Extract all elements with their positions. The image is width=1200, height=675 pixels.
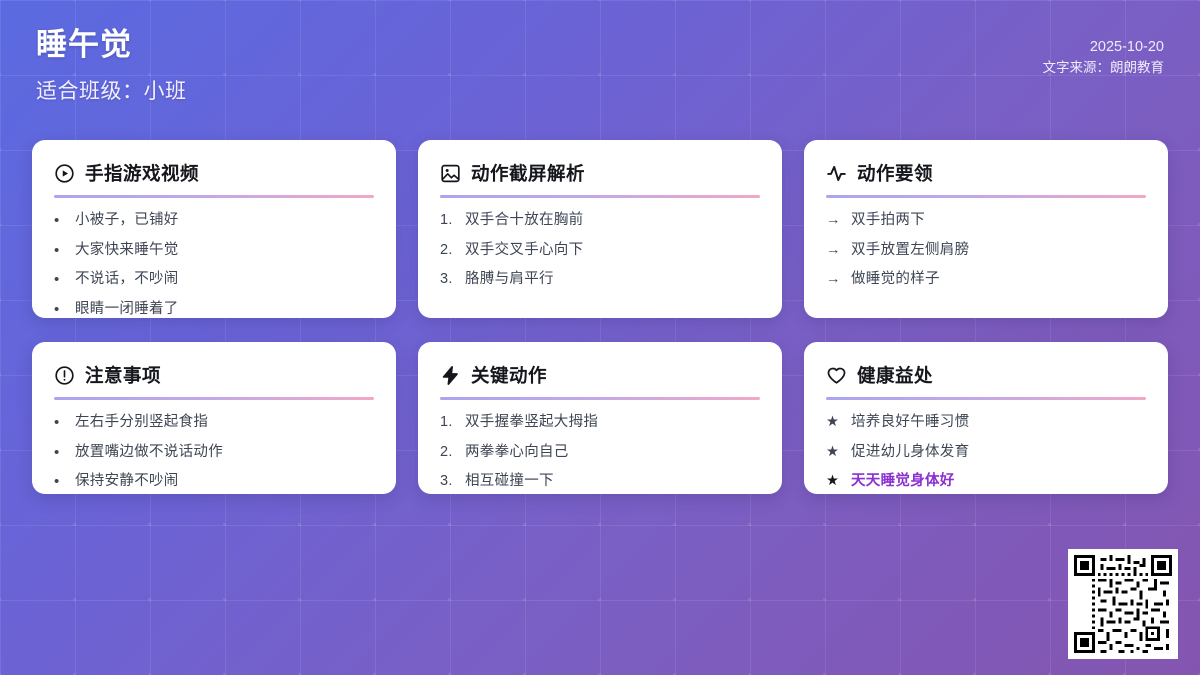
list-item-text: 小被子，已铺好 [75, 211, 179, 231]
list-item-text: 眼睛一闭睡着了 [75, 300, 179, 318]
card-header: 关键动作 [440, 362, 760, 388]
card-divider [54, 195, 374, 198]
list-item: ★培养良好午睡习惯 [826, 413, 1146, 433]
list-marker: • [54, 413, 67, 433]
list-item: 3.相互碰撞一下 [440, 472, 760, 492]
card-divider [826, 195, 1146, 198]
list-item-text: 不说话，不吵闹 [75, 270, 179, 290]
header-meta: 2025-10-20 文字来源：朗朗教育 [1043, 36, 1165, 79]
play-circle-icon [54, 163, 75, 184]
card-title: 动作要领 [857, 160, 933, 186]
list-item-text: 保持安静不吵闹 [75, 472, 179, 492]
image-icon [440, 163, 461, 184]
card-grid: 手指游戏视频•小被子，已铺好•大家快来睡午觉•不说话，不吵闹•眼睛一闭睡着了动作… [32, 140, 1168, 494]
list-item-text: 天天睡觉身体好 [851, 472, 955, 492]
list-item: ★促进幼儿身体发育 [826, 443, 1146, 463]
list-marker: → [826, 270, 843, 290]
list-item-text: 做睡觉的样子 [851, 270, 940, 290]
info-card: 动作截屏解析1.双手合十放在胸前2.双手交叉手心向下3.胳膊与肩平行 [418, 140, 782, 318]
heart-icon [826, 365, 847, 386]
card-title: 动作截屏解析 [471, 160, 585, 186]
list-marker: ★ [826, 443, 843, 463]
list-item: •不说话，不吵闹 [54, 270, 374, 290]
info-card: 注意事项•左右手分别竖起食指•放置嘴边做不说话动作•保持安静不吵闹 [32, 342, 396, 494]
list-item-text: 双手放置左侧肩膀 [851, 241, 969, 261]
bolt-icon [440, 365, 461, 386]
list-marker: → [826, 241, 843, 261]
info-card: 动作要领→双手拍两下→双手放置左侧肩膀→做睡觉的样子 [804, 140, 1168, 318]
info-card: 健康益处★培养良好午睡习惯★促进幼儿身体发育★天天睡觉身体好 [804, 342, 1168, 494]
list-item: 1.双手握拳竖起大拇指 [440, 413, 760, 433]
slide-header: 睡午觉 适合班级：小班 [0, 0, 1200, 128]
page-title: 睡午觉 [36, 26, 1164, 65]
list-marker: • [54, 443, 67, 463]
list-marker: • [54, 211, 67, 231]
list-item: 2.双手交叉手心向下 [440, 241, 760, 261]
list-item-text: 培养良好午睡习惯 [851, 413, 969, 433]
list-item: •放置嘴边做不说话动作 [54, 443, 374, 463]
list-item-text: 双手交叉手心向下 [465, 241, 583, 261]
list-item-text: 左右手分别竖起食指 [75, 413, 208, 433]
list-marker: → [826, 211, 843, 231]
list-item-text: 两拳拳心向自己 [465, 443, 569, 463]
info-card: 手指游戏视频•小被子，已铺好•大家快来睡午觉•不说话，不吵闹•眼睛一闭睡着了 [32, 140, 396, 318]
list-marker: • [54, 270, 67, 290]
list-marker: • [54, 300, 67, 318]
list-item: →做睡觉的样子 [826, 270, 1146, 290]
card-header: 动作要领 [826, 160, 1146, 186]
list-marker: 2. [440, 443, 457, 463]
card-list: →双手拍两下→双手放置左侧肩膀→做睡觉的样子 [826, 211, 1146, 290]
list-item: →双手拍两下 [826, 211, 1146, 231]
list-item-text: 相互碰撞一下 [465, 472, 554, 492]
list-marker: ★ [826, 413, 843, 433]
card-list: ★培养良好午睡习惯★促进幼儿身体发育★天天睡觉身体好 [826, 413, 1146, 492]
card-divider [54, 397, 374, 400]
card-header: 注意事项 [54, 362, 374, 388]
page-subtitle: 适合班级：小班 [36, 75, 1164, 105]
card-list: 1.双手握拳竖起大拇指2.两拳拳心向自己3.相互碰撞一下 [440, 413, 760, 492]
card-divider [440, 195, 760, 198]
list-item: →双手放置左侧肩膀 [826, 241, 1146, 261]
card-list: •小被子，已铺好•大家快来睡午觉•不说话，不吵闹•眼睛一闭睡着了 [54, 211, 374, 318]
date-label: 2025-10-20 [1043, 36, 1165, 58]
list-item-text: 胳膊与肩平行 [465, 270, 554, 290]
source-label: 文字来源：朗朗教育 [1043, 58, 1165, 79]
activity-icon [826, 163, 847, 184]
list-item: •眼睛一闭睡着了 [54, 300, 374, 318]
list-marker: ★ [826, 472, 843, 492]
list-item-text: 大家快来睡午觉 [75, 241, 179, 261]
list-item-text: 放置嘴边做不说话动作 [75, 443, 223, 463]
list-item-text: 双手拍两下 [851, 211, 925, 231]
list-item: 1.双手合十放在胸前 [440, 211, 760, 231]
card-divider [826, 397, 1146, 400]
list-marker: 3. [440, 472, 457, 492]
list-item-text: 双手握拳竖起大拇指 [465, 413, 598, 433]
list-marker: 3. [440, 270, 457, 290]
card-list: •左右手分别竖起食指•放置嘴边做不说话动作•保持安静不吵闹 [54, 413, 374, 492]
card-header: 手指游戏视频 [54, 160, 374, 186]
card-header: 动作截屏解析 [440, 160, 760, 186]
list-item: •保持安静不吵闹 [54, 472, 374, 492]
list-item: ★天天睡觉身体好 [826, 472, 1146, 492]
list-marker: • [54, 472, 67, 492]
card-title: 手指游戏视频 [85, 160, 199, 186]
list-item: 2.两拳拳心向自己 [440, 443, 760, 463]
list-item-text: 促进幼儿身体发育 [851, 443, 969, 463]
list-item: •左右手分别竖起食指 [54, 413, 374, 433]
qr-code[interactable] [1068, 549, 1178, 659]
card-title: 关键动作 [471, 362, 547, 388]
card-list: 1.双手合十放在胸前2.双手交叉手心向下3.胳膊与肩平行 [440, 211, 760, 290]
list-item-text: 双手合十放在胸前 [465, 211, 583, 231]
list-item: •大家快来睡午觉 [54, 241, 374, 261]
info-card: 关键动作1.双手握拳竖起大拇指2.两拳拳心向自己3.相互碰撞一下 [418, 342, 782, 494]
list-marker: • [54, 241, 67, 261]
list-item: •小被子，已铺好 [54, 211, 374, 231]
list-marker: 1. [440, 413, 457, 433]
slide-canvas: 睡午觉 适合班级：小班 2025-10-20 文字来源：朗朗教育 手指游戏视频•… [0, 0, 1200, 675]
card-title: 健康益处 [857, 362, 933, 388]
card-header: 健康益处 [826, 362, 1146, 388]
alert-circle-icon [54, 365, 75, 386]
list-item: 3.胳膊与肩平行 [440, 270, 760, 290]
card-title: 注意事项 [85, 362, 161, 388]
card-divider [440, 397, 760, 400]
list-marker: 2. [440, 241, 457, 261]
list-marker: 1. [440, 211, 457, 231]
